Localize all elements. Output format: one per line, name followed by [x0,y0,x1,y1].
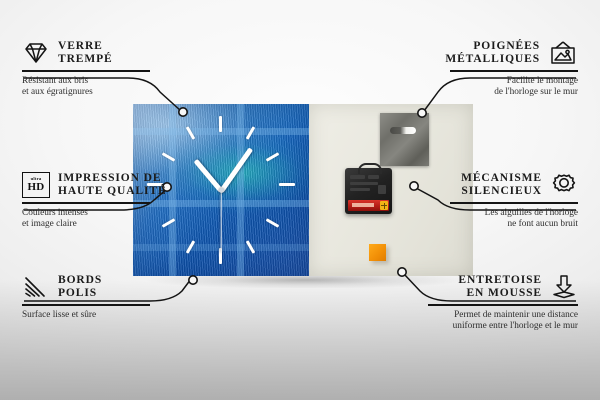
diamond-icon [22,41,50,65]
second-hand [220,191,221,253]
clock-hub [219,188,224,193]
tick-12 [219,116,222,132]
metal-hanger-plate [380,113,429,166]
callout-title-line2: SILENCIEUX [461,185,542,198]
callout-sub-line1: Surface lisse et sûre [22,310,172,321]
callout-sub-line2: et aux égratignures [22,87,172,98]
callout-rule [450,70,578,72]
callout-print-quality: ultra HD IMPRESSION DE HAUTE QUALITÉ Cou… [22,172,182,230]
ultra-hd-large-text: HD [27,182,44,193]
callout-sub-line1: Les aiguilles de l'horloge [428,208,578,219]
callout-title-line2: TREMPÉ [58,53,113,66]
callout-rule [428,304,578,306]
callout-sub-line2: uniforme entre l'horloge et le mur [406,321,578,332]
gear-icon [550,172,578,198]
callout-sub-line1: Résistant aux bris [22,76,172,87]
callout-silent-mechanism: MÉCANISME SILENCIEUX Les aiguilles de l'… [428,172,578,230]
diagonal-lines-icon [22,275,50,299]
callout-rule [22,70,150,72]
callout-polished-edges: BORDS POLIS Surface lisse et sûre [22,274,172,321]
callout-title-line2: MÉTALLIQUES [445,53,540,66]
callout-title-line1: MÉCANISME [461,172,542,185]
tick-3 [279,183,295,186]
arrow-down-layers-icon [550,274,578,300]
callout-rule [22,202,150,204]
callout-rule [22,304,150,306]
foam-spacer [369,244,386,261]
callout-sub-line2: de l'horloge sur le mur [428,87,578,98]
ultra-hd-icon: ultra HD [22,172,50,198]
quartz-mechanism-box [345,168,392,214]
infographic-canvas: VERRE TREMPÉ Résistant aux bris et aux é… [0,0,600,400]
callout-sub-line1: Facilite le montage [428,76,578,87]
callout-foam-spacer: ENTRETOISE EN MOUSSE Permet de maintenir… [406,274,578,332]
callout-tempered-glass: VERRE TREMPÉ Résistant aux bris et aux é… [22,40,172,98]
battery-label [352,203,374,207]
callout-title-line1: IMPRESSION DE [58,172,167,185]
battery-plus-terminal [380,201,388,210]
callout-title-line2: POLIS [58,287,102,300]
callout-title-line1: POIGNÉES [445,40,540,53]
hanger-keyhole-slot [390,127,416,134]
callout-rule [450,202,578,204]
callout-title-line1: VERRE [58,40,113,53]
callout-sub-line1: Permet de maintenir une distance [406,310,578,321]
callout-title-line2: EN MOUSSE [458,287,542,300]
product-image [133,104,473,276]
callout-title-line1: ENTRETOISE [458,274,542,287]
callout-metal-handles: POIGNÉES MÉTALLIQUES Facilite le montage… [428,40,578,98]
picture-frame-hanging-icon [548,40,578,66]
callout-sub-line1: Couleurs intenses [22,208,182,219]
callout-sub-line2: et image claire [22,219,182,230]
battery [348,200,389,211]
callout-sub-line2: ne font aucun bruit [428,219,578,230]
mechanism-loop [358,163,382,174]
callout-title-line1: BORDS [58,274,102,287]
callout-title-line2: HAUTE QUALITÉ [58,185,167,198]
